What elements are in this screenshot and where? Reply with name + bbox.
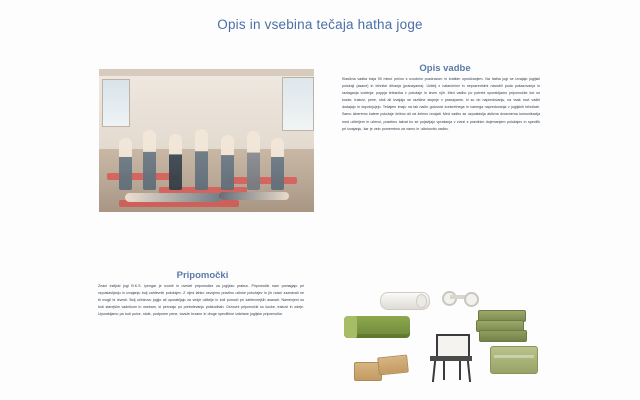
section-heading-opis-vadbe: Opis vadbe (340, 63, 550, 74)
photo-person (169, 134, 182, 190)
folding-chair-icon (426, 334, 478, 382)
group-yoga-class-photo (99, 69, 314, 212)
photo-person (247, 131, 260, 190)
photo-person-lying (219, 192, 289, 200)
strap-ring (464, 292, 479, 307)
photo-mat (227, 177, 297, 184)
bolster-icon (380, 292, 430, 310)
document-page: Opis in vsebina tečaja hatha joge Opis v… (0, 0, 640, 400)
photo-person (271, 138, 284, 190)
chair-leg (467, 361, 471, 382)
page-title: Opis in vsebina tečaja hatha joge (0, 17, 640, 32)
photo-window-right (282, 77, 314, 131)
photo-person (143, 130, 156, 190)
section-body-opis-vadbe: Klasična vadba traja 90 minut prično s u… (342, 76, 540, 133)
photo-person (195, 129, 208, 190)
green-mat-roll-icon (344, 316, 410, 338)
photo-person (221, 135, 234, 190)
chair-leg (459, 361, 461, 380)
chair-leg (443, 361, 445, 380)
chair-seat (430, 356, 472, 361)
section-heading-pripomocki: Pripomočki (95, 270, 310, 281)
section-body-pripomocki: Znani indijski jogi B.K.S. Iyengar je iz… (98, 283, 304, 318)
photo-window-left (102, 79, 130, 127)
cork-block (377, 354, 409, 375)
cork-blocks-icon (354, 354, 408, 382)
photo-person (119, 138, 132, 190)
yoga-props-collage (330, 288, 545, 388)
photo-person-lying (125, 193, 221, 202)
photo-ceiling-beam (99, 69, 314, 76)
chair-leg (432, 361, 436, 382)
block (479, 330, 527, 342)
stacked-blocks-icon (476, 310, 526, 340)
yoga-strap-icon (442, 290, 480, 304)
folded-blanket-icon (490, 346, 538, 374)
